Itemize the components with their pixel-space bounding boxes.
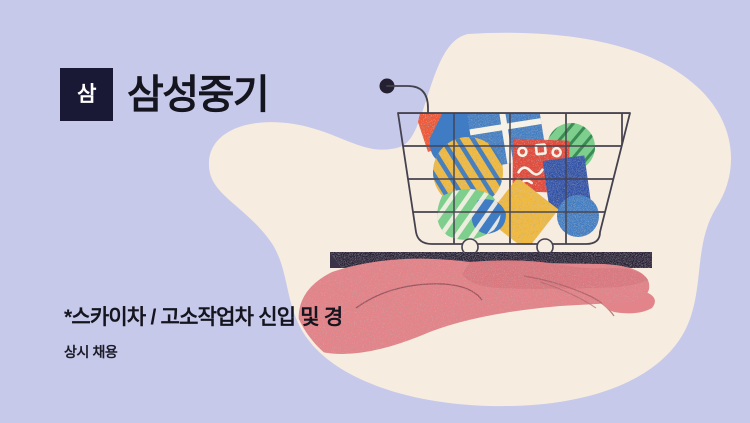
job-title: *스카이차 / 고소작업차 신입 및 경	[64, 305, 342, 331]
brand-badge: 삼	[60, 68, 113, 121]
brand: 삼 삼성중기	[60, 68, 268, 121]
brand-name: 삼성중기	[127, 75, 268, 115]
job-subtitle: 상시 채용	[64, 344, 117, 361]
job-posting-banner: 삼 삼성중기 *스카이차 / 고소작업차 신입 및 경 상시 채용	[0, 0, 750, 423]
banner-content: 삼 삼성중기 *스카이차 / 고소작업차 신입 및 경 상시 채용	[0, 0, 750, 423]
